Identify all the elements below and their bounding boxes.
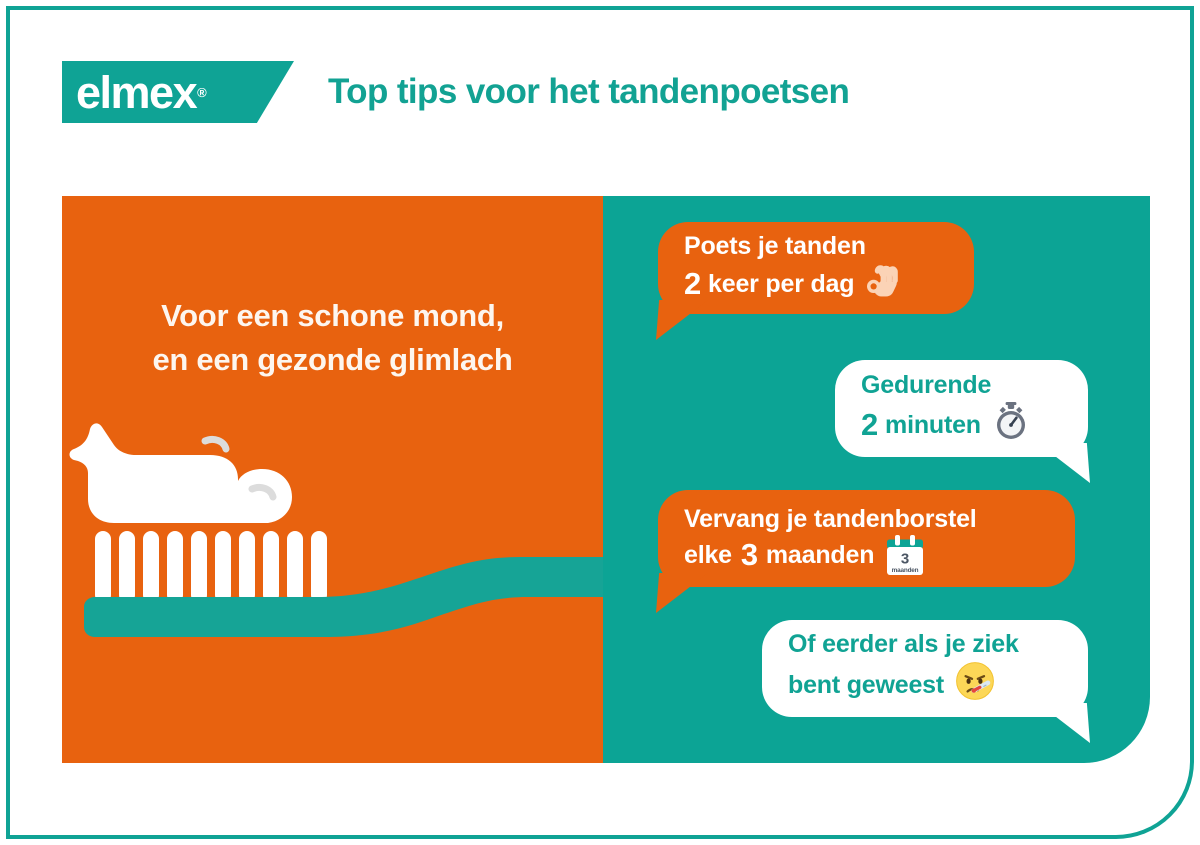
calendar-icon: 3 maanden: [886, 535, 924, 575]
tip-bubble-after-illness: Of eerder als je ziek bent geweest: [762, 620, 1088, 717]
tip-number: 2: [861, 405, 878, 445]
page-title: Top tips voor het tandenpoetsen: [328, 72, 849, 112]
tip-line-2-prefix: elke: [684, 539, 732, 571]
elmex-logo: elmex ®: [62, 61, 294, 123]
stopwatch-icon: [991, 401, 1031, 449]
tip-line-2: bent geweest: [788, 660, 1019, 710]
headline-line-1: Voor een schone mond,: [161, 298, 504, 333]
tip-line-1: Vervang je tandenborstel: [684, 503, 977, 535]
tip-number: 2: [684, 264, 701, 304]
tip-bubble-two-minutes: Gedurende 2 minuten: [835, 360, 1088, 457]
face-with-thermometer-icon: [954, 660, 996, 710]
registered-trademark-icon: ®: [197, 85, 207, 100]
calendar-number: 3: [901, 550, 909, 567]
tip-line-1: Poets je tanden: [684, 230, 900, 262]
calendar-label: maanden: [892, 567, 919, 574]
header: elmex ® Top tips voor het tandenpoetsen: [62, 60, 849, 124]
tip-number-unit: minuten: [885, 409, 981, 441]
tip-line-1: Of eerder als je ziek: [788, 628, 1019, 660]
tip-number-unit: maanden: [766, 539, 874, 571]
tip-line-2: 2 minuten: [861, 401, 1031, 449]
ok-hand-icon: [864, 262, 900, 306]
infographic-page: elmex ® Top tips voor het tandenpoetsen …: [0, 0, 1200, 845]
headline-line-2: en een gezonde glimlach: [62, 338, 603, 382]
toothbrush-icon: [62, 411, 603, 661]
tip-line-2: elke 3 maanden 3 maanden: [684, 535, 977, 575]
tip-bubble-replace-brush: Vervang je tandenborstel elke 3 maanden …: [658, 490, 1075, 587]
tip-number-unit: keer per dag: [708, 268, 854, 300]
logo-wordmark: elmex: [76, 70, 196, 115]
left-panel: Voor een schone mond, en een gezonde gli…: [62, 196, 603, 763]
left-headline: Voor een schone mond, en een gezonde gli…: [62, 294, 603, 382]
tip-number: 3: [741, 535, 758, 575]
tip-line-1: Gedurende: [861, 369, 1031, 401]
tip-bubble-twice-daily: Poets je tanden 2 keer per dag: [658, 222, 974, 314]
tip-line-2: 2 keer per dag: [684, 262, 900, 306]
